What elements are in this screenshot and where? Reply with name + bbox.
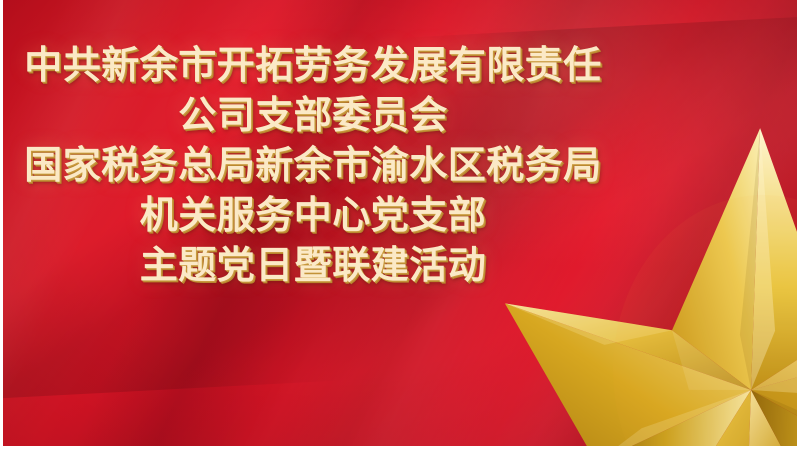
background-red-gradient [3, 0, 797, 446]
party-event-banner: 中共新余市开拓劳务发展有限责任 公司支部委员会 国家税务总局新余市渝水区税务局 … [0, 0, 800, 450]
